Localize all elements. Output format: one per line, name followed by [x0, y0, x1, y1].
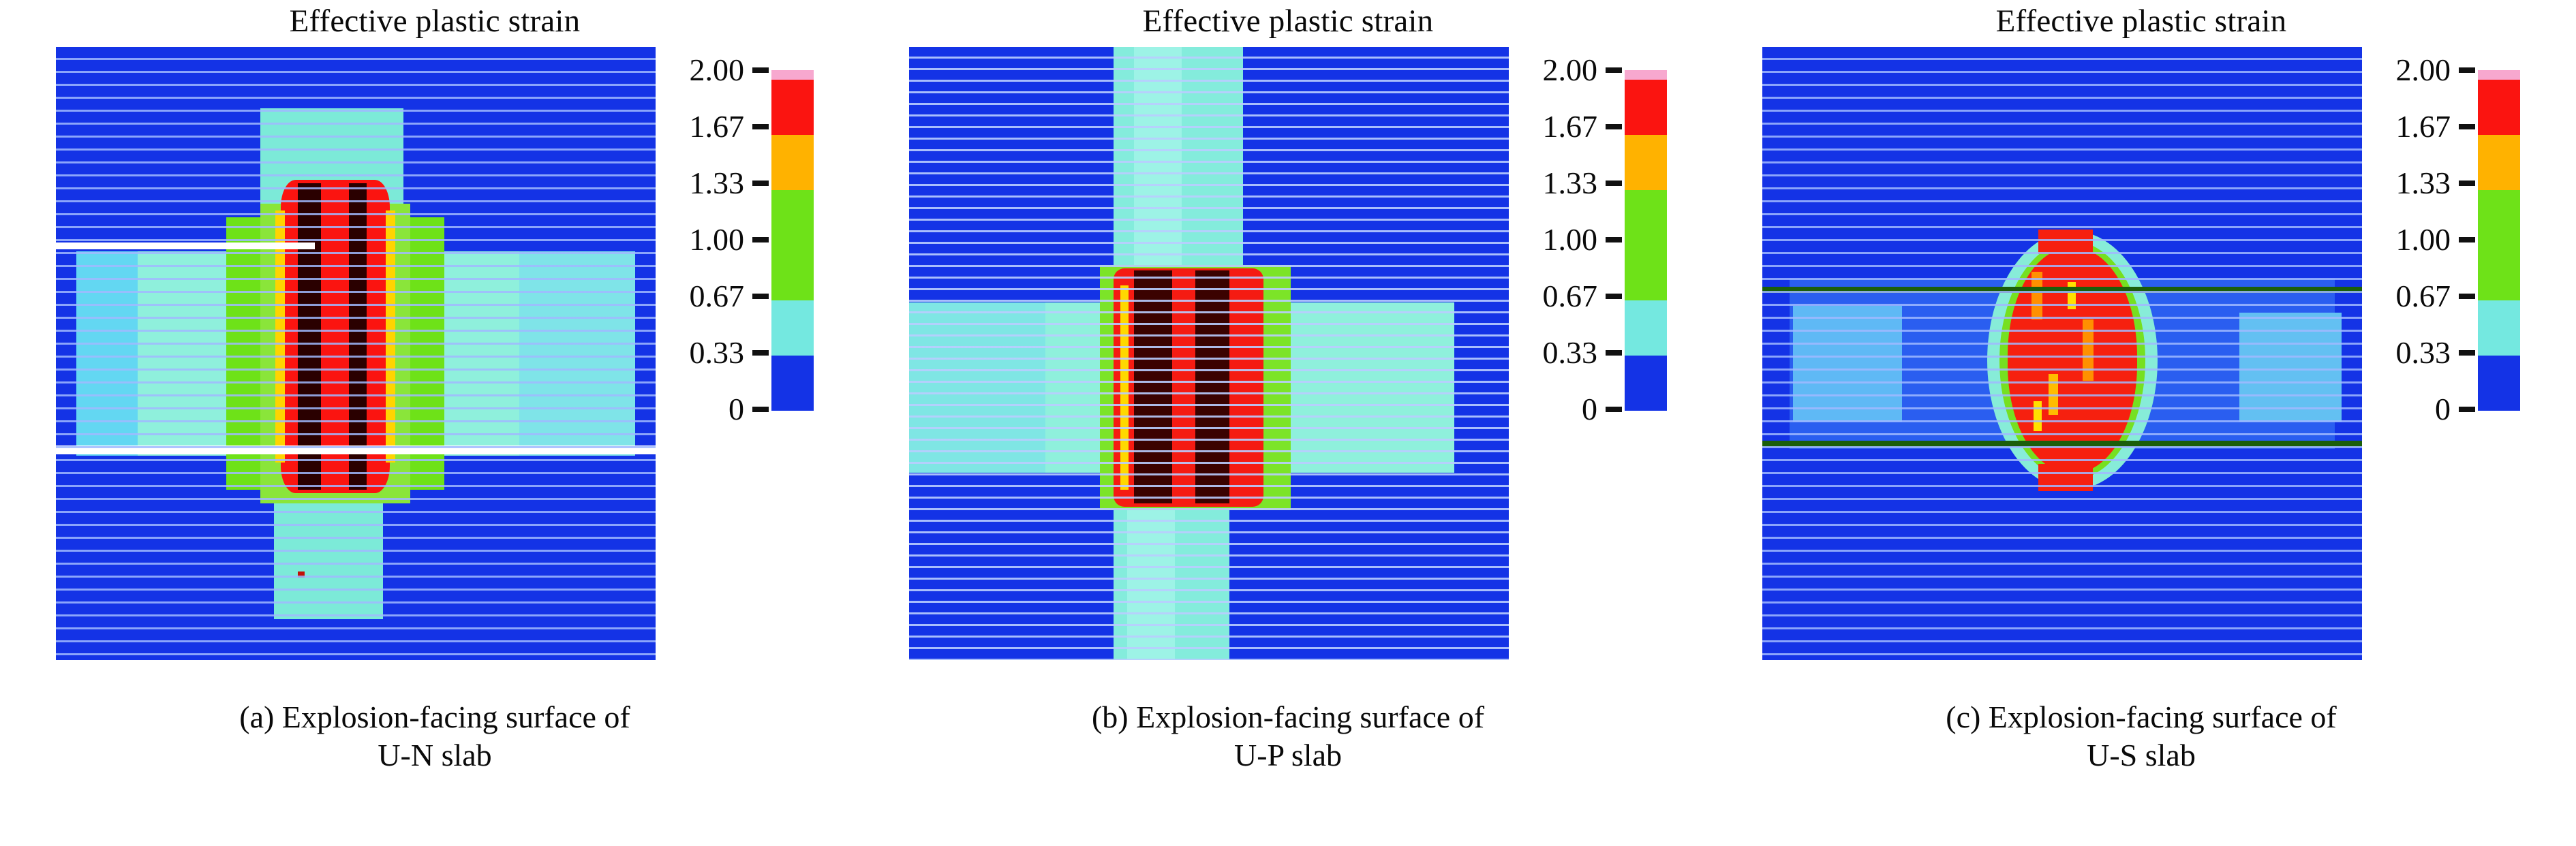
colorbar-label-1-00: 1.00 — [690, 224, 745, 255]
colorbar-tick-1-67 — [2459, 124, 2475, 129]
panel-b-title: Effective plastic strain — [1143, 5, 1434, 37]
strain-orange-patch-1 — [2031, 272, 2042, 319]
colorbar-band-green — [2478, 190, 2520, 300]
colorbar-band-cyan — [2478, 300, 2520, 356]
colorbar-labels: 2.00 1.67 1.33 1.00 0.67 0.33 0 — [1521, 51, 1625, 433]
strain-yellow-edge — [1120, 285, 1129, 490]
colorbar-band-green — [771, 190, 814, 300]
colorbar-tick-2-00 — [1606, 67, 1622, 73]
colorbar-label-1-00: 1.00 — [2396, 224, 2451, 255]
reinforcement-line-top — [1762, 287, 2362, 293]
colorbar-band-over — [771, 70, 814, 80]
colorbar-tick-0-33 — [2459, 350, 2475, 356]
mesh-gap-left — [56, 242, 315, 249]
panel-b-contour-plot — [909, 47, 1509, 660]
colorbar-label-1-67: 1.67 — [1543, 111, 1598, 142]
strain-band-left — [76, 251, 138, 456]
colorbar-label-1-67: 1.67 — [690, 111, 745, 142]
colorbar-label-0: 0 — [2435, 394, 2451, 425]
colorbar-tick-0 — [1606, 407, 1622, 412]
colorbar-band-orange — [2478, 135, 2520, 190]
strain-failure-column-1 — [1134, 270, 1172, 503]
colorbar-band-blue — [2478, 356, 2520, 411]
colorbar-label-1-33: 1.33 — [690, 168, 745, 199]
colorbar-label-0-67: 0.67 — [690, 281, 745, 312]
colorbar-band-red — [771, 80, 814, 135]
strain-orange-patch-2 — [2083, 319, 2094, 381]
colorbar-label-1-33: 1.33 — [2396, 168, 2451, 199]
colorbar-label-0-67: 0.67 — [1543, 281, 1598, 312]
colorbar-tick-1-00 — [2459, 237, 2475, 242]
colorbar-label-0-67: 0.67 — [2396, 281, 2451, 312]
colorbar-band-blue — [1625, 356, 1667, 411]
colorbar-label-0: 0 — [729, 394, 744, 425]
colorbar-band-red — [2478, 80, 2520, 135]
colorbar-band-over — [2478, 70, 2520, 80]
colorbar-label-2-00: 2.00 — [2396, 54, 2451, 86]
colorbar-tick-0-33 — [1606, 350, 1622, 356]
strain-failure-column-2 — [349, 183, 367, 490]
colorbar-label-0: 0 — [1582, 394, 1597, 425]
reinforcement-line-bottom — [1762, 441, 2362, 447]
colorbar-tick-0 — [752, 407, 769, 412]
panel-a-caption: (a) Explosion-facing surface of U-N slab — [239, 698, 630, 774]
strain-light-left — [1793, 306, 1902, 422]
strain-yellow-patch-1 — [2068, 282, 2076, 309]
colorbar-label-1-67: 1.67 — [2396, 111, 2451, 142]
panel-a-contour-plot — [56, 47, 656, 660]
panel-b: Effective plastic strain — [872, 0, 1704, 846]
colorbar-band-cyan — [771, 300, 814, 356]
colorbar-tick-1-67 — [1606, 124, 1622, 129]
colorbar-tick-1-33 — [752, 181, 769, 186]
colorbar-label-0-33: 0.33 — [2396, 337, 2451, 369]
colorbar-labels: 2.00 1.67 1.33 1.00 0.67 0.33 0 — [2374, 51, 2478, 433]
strain-failure-column-2 — [1195, 270, 1229, 503]
colorbar-label-2-00: 2.00 — [1543, 54, 1598, 86]
colorbar-label-0-33: 0.33 — [690, 337, 745, 369]
strain-failure-column-1 — [298, 183, 321, 490]
panel-b-caption: (b) Explosion-facing surface of U-P slab — [1092, 698, 1484, 774]
panel-c-caption: (c) Explosion-facing surface of U-S slab — [1946, 698, 2336, 774]
strain-band-left — [909, 302, 1045, 473]
colorbar-label-1-33: 1.33 — [1543, 168, 1598, 199]
panel-c-colorbar: 2.00 1.67 1.33 1.00 0.67 0.33 0 — [2374, 47, 2520, 660]
colorbar-band-orange — [1625, 135, 1667, 190]
colorbar-label-2-00: 2.00 — [690, 54, 745, 86]
figure-root: Effective plastic strain — [0, 0, 2576, 846]
colorbar-label-0-33: 0.33 — [1543, 337, 1598, 369]
colorbar-tick-1-00 — [752, 237, 769, 242]
colorbar-tick-0-67 — [2459, 294, 2475, 299]
colorbar-gradient — [771, 70, 814, 411]
strain-yellow-right — [386, 210, 395, 463]
strain-light-right — [2239, 313, 2342, 422]
colorbar-tick-0 — [2459, 407, 2475, 412]
panel-b-plot-row: 2.00 1.67 1.33 1.00 0.67 0.33 0 — [909, 47, 1667, 660]
panel-a: Effective plastic strain — [19, 0, 850, 846]
colorbar-tick-1-33 — [1606, 181, 1622, 186]
colorbar-tick-2-00 — [2459, 67, 2475, 73]
colorbar-band-cyan — [1625, 300, 1667, 356]
colorbar-band-green — [1625, 190, 1667, 300]
strain-orange-patch-3 — [2049, 374, 2058, 415]
panel-a-colorbar: 2.00 1.67 1.33 1.00 0.67 0.33 0 — [668, 47, 814, 660]
strain-speck — [298, 571, 305, 578]
colorbar-band-blue — [771, 356, 814, 411]
colorbar-tick-1-00 — [1606, 237, 1622, 242]
strain-yellow-patch-2 — [2034, 401, 2042, 431]
mesh-gap-mid — [56, 445, 656, 454]
colorbar-tick-0-67 — [1606, 294, 1622, 299]
panel-b-colorbar: 2.00 1.67 1.33 1.00 0.67 0.33 0 — [1521, 47, 1667, 660]
colorbar-band-red — [1625, 80, 1667, 135]
colorbar-label-1-00: 1.00 — [1543, 224, 1598, 255]
colorbar-tick-0-33 — [752, 350, 769, 356]
panel-c-contour-plot — [1762, 47, 2362, 660]
colorbar-gradient — [2478, 70, 2520, 411]
colorbar-labels: 2.00 1.67 1.33 1.00 0.67 0.33 0 — [668, 51, 771, 433]
panel-a-plot-row: 2.00 1.67 1.33 1.00 0.67 0.33 0 — [56, 47, 814, 660]
colorbar-tick-1-33 — [2459, 181, 2475, 186]
strain-band-right — [519, 251, 635, 456]
colorbar-tick-2-00 — [752, 67, 769, 73]
colorbar-gradient — [1625, 70, 1667, 411]
panel-c: Effective plastic strain — [1726, 0, 2557, 846]
panel-c-title: Effective plastic strain — [1996, 5, 2287, 37]
panel-a-title: Effective plastic strain — [290, 5, 581, 37]
colorbar-tick-0-67 — [752, 294, 769, 299]
colorbar-band-over — [1625, 70, 1667, 80]
colorbar-tick-1-67 — [752, 124, 769, 129]
panel-c-plot-row: 2.00 1.67 1.33 1.00 0.67 0.33 0 — [1762, 47, 2520, 660]
colorbar-band-orange — [771, 135, 814, 190]
